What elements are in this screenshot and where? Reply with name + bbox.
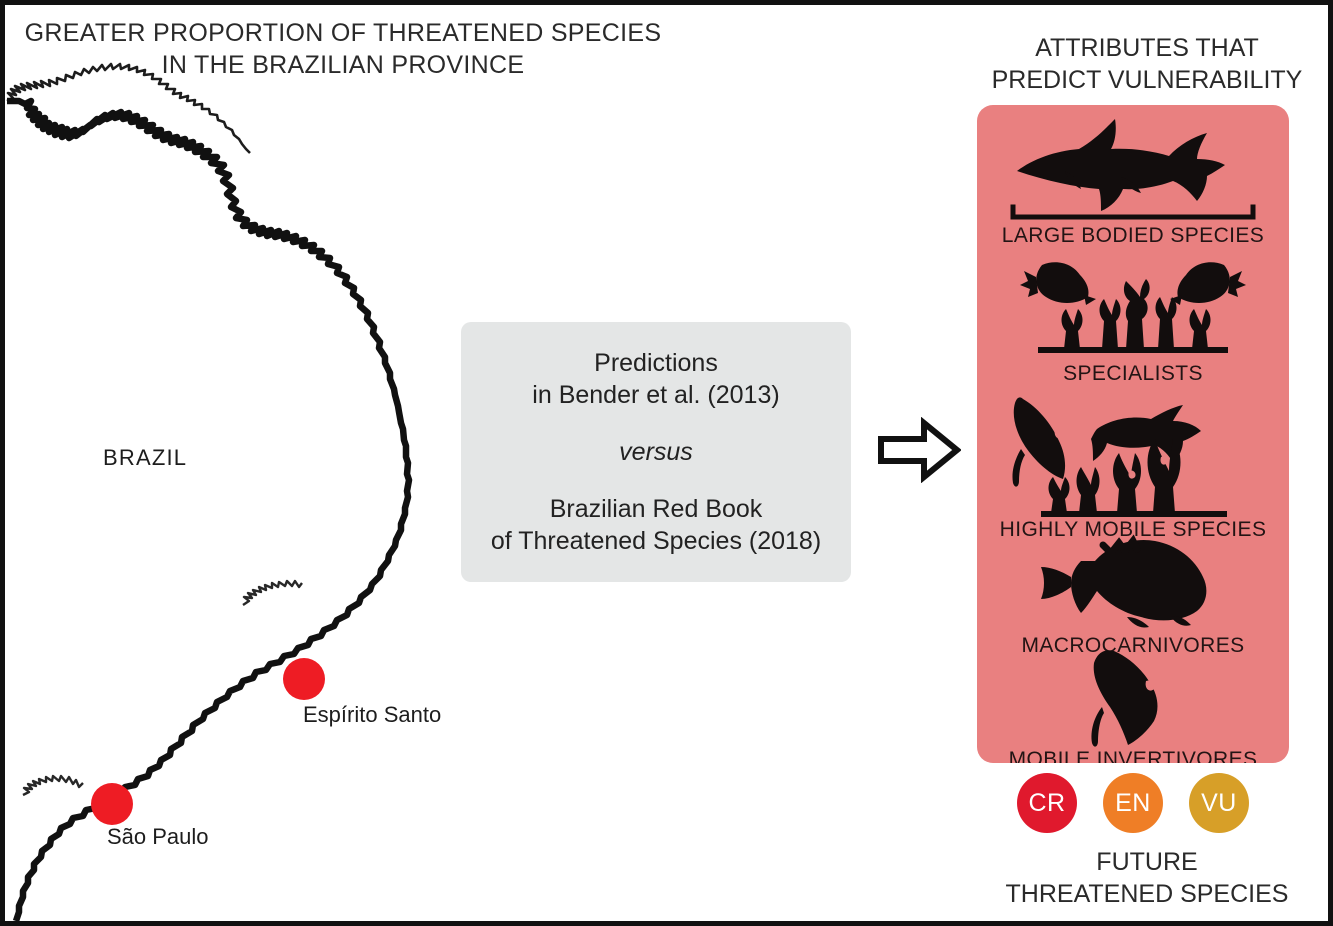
brazil-coastline-map [5,5,475,921]
status-badge-label: EN [1115,789,1151,818]
comparison-connector: versus [619,438,693,467]
city-dot-espirito-santo[interactable] [283,658,325,700]
comparison-box: Predictions in Bender et al. (2013) vers… [461,322,851,582]
manta-ray-shark-and-coral-icon [993,393,1273,519]
stingray-silhouette-icon [1058,649,1208,749]
brazil-map-panel: GREATER PROPORTION OF THREATENED SPECIES… [5,5,475,921]
future-threatened-species-caption: FUTURE THREATENED SPECIES [961,847,1333,911]
attributes-panel: ATTRIBUTES THAT PREDICT VULNERABILITY LA… [961,5,1333,921]
grouper-silhouette-icon [1023,531,1243,635]
map-title: GREATER PROPORTION OF THREATENED SPECIES… [13,17,673,81]
attribute-macrocarnivores: MACROCARNIVORES [977,531,1289,656]
comparison-source-b: Brazilian Red Book of Threatened Species… [491,493,821,558]
city-dot-sao-paulo[interactable] [91,783,133,825]
comparison-source-a: Predictions in Bender et al. (2013) [532,347,779,412]
shark-silhouette-icon [1003,115,1263,225]
attribute-highly-mobile-species: HIGHLY MOBILE SPECIES [977,393,1289,540]
attribute-specialists: SPECIALISTS [977,255,1289,384]
butterflyfish-and-coral-icon [998,255,1268,363]
status-badge-cr[interactable]: CR [1017,773,1077,833]
attribute-label: MOBILE INVERTIVORES [977,749,1289,763]
map-country-label: BRAZIL [103,445,187,471]
status-badge-vu[interactable]: VU [1189,773,1249,833]
right-arrow-outline-icon [877,417,961,483]
city-label-sao-paulo: São Paulo [107,824,209,850]
attributes-card: LARGE BODIED SPECIES [977,105,1289,763]
attributes-title: ATTRIBUTES THAT PREDICT VULNERABILITY [961,33,1333,96]
attribute-large-bodied-species: LARGE BODIED SPECIES [977,115,1289,246]
status-badge-label: VU [1201,789,1237,818]
status-badge-label: CR [1028,789,1065,818]
city-label-espirito-santo: Espírito Santo [303,702,441,728]
status-badge-en[interactable]: EN [1103,773,1163,833]
figure-frame: GREATER PROPORTION OF THREATENED SPECIES… [0,0,1333,926]
iucn-status-badges: CR EN VU [977,773,1289,833]
attribute-label: LARGE BODIED SPECIES [977,225,1289,246]
attribute-mobile-invertivores: MOBILE INVERTIVORES [977,649,1289,763]
attribute-label: SPECIALISTS [977,363,1289,384]
